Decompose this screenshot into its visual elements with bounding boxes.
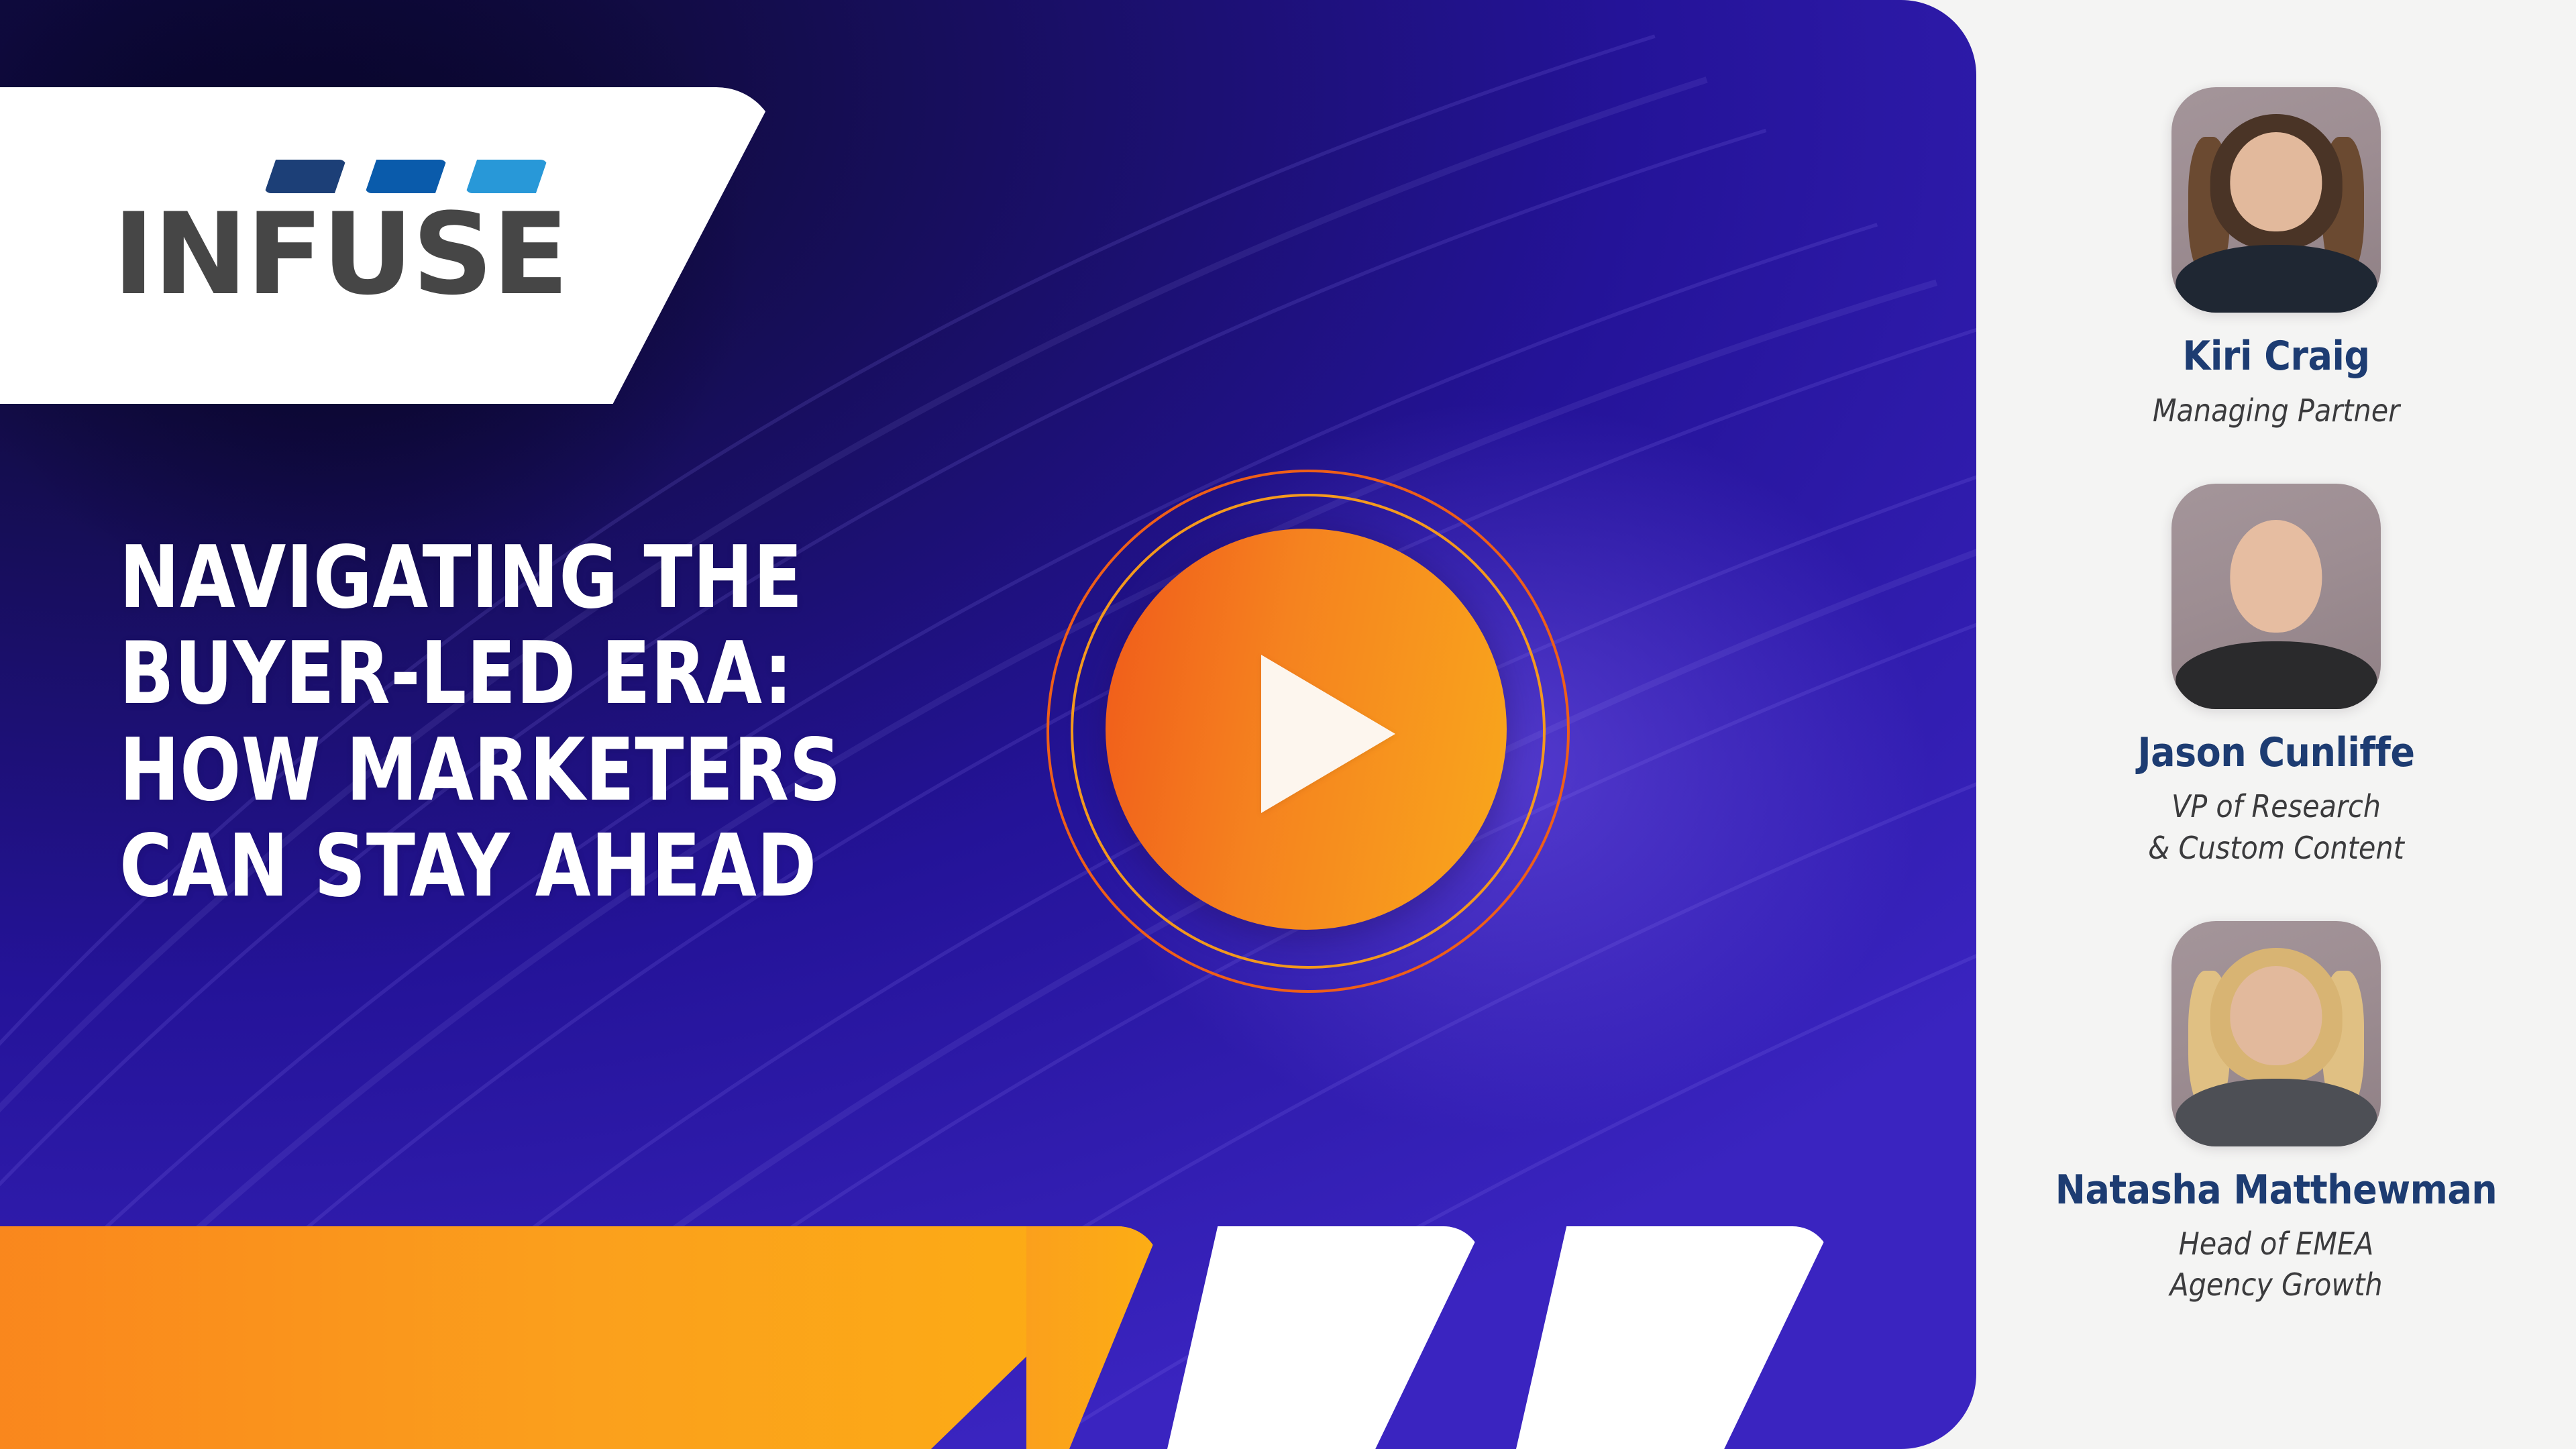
speaker-role: Head of EMEA Agency Growth — [2169, 1224, 2382, 1305]
speaker-card-1: Kiri Craig Managing Partner — [1976, 87, 2576, 431]
play-circle-icon[interactable] — [1106, 529, 1507, 930]
speaker-name: Kiri Craig — [2182, 335, 2369, 378]
speaker-card-3: Natasha Matthewman Head of EMEA Agency G… — [1976, 921, 2576, 1306]
speaker-rail: Kiri Craig Managing Partner Jason Cunlif… — [1976, 0, 2576, 1449]
infuse-wordmark: INFUSE — [113, 195, 555, 315]
hero-card: INFUSE NAVIGATING THE BUYER-LED ERA: HOW… — [0, 0, 1976, 1449]
speaker-role-line: Managing Partner — [2153, 392, 2400, 429]
speaker-card-2: Jason Cunliffe VP of Research & Custom C… — [1976, 484, 2576, 869]
webinar-title-card: INFUSE NAVIGATING THE BUYER-LED ERA: HOW… — [0, 0, 2576, 1449]
avatar-body — [2176, 1079, 2377, 1146]
speaker-role-line: Head of EMEA — [2179, 1226, 2374, 1262]
speaker-name: Natasha Matthewman — [2055, 1169, 2497, 1212]
white-slash-shape-2 — [1516, 1226, 1831, 1449]
avatar — [2171, 87, 2381, 313]
speaker-role-line: VP of Research — [2171, 788, 2381, 824]
title-line-3: HOW MARKETERS — [119, 722, 1199, 818]
speaker-role: VP of Research & Custom Content — [2148, 786, 2404, 868]
orange-banner-shape — [0, 1226, 1161, 1449]
speaker-name: Jason Cunliffe — [2138, 732, 2415, 775]
speaker-role-line: Agency Growth — [2169, 1267, 2382, 1303]
infuse-logo[interactable]: INFUSE — [113, 160, 555, 327]
page-title: NAVIGATING THE BUYER-LED ERA: HOW MARKET… — [119, 530, 1199, 914]
white-slash-shape-1 — [1167, 1226, 1483, 1449]
speaker-role-line: & Custom Content — [2148, 830, 2404, 866]
avatar — [2171, 484, 2381, 709]
play-triangle-icon — [1261, 655, 1395, 813]
avatar-face — [2230, 966, 2322, 1065]
title-line-1: NAVIGATING THE — [119, 530, 1199, 626]
avatar-body — [2176, 641, 2377, 709]
orange-banner-cap-shape — [1026, 1226, 1161, 1449]
avatar-face — [2230, 132, 2322, 231]
avatar-body — [2176, 245, 2377, 313]
play-button[interactable] — [1046, 470, 1570, 993]
speaker-role: Managing Partner — [2153, 390, 2400, 431]
title-line-2: BUYER-LED ERA: — [119, 626, 1199, 722]
title-line-4: CAN STAY AHEAD — [119, 818, 1199, 914]
avatar-face — [2230, 520, 2322, 633]
avatar — [2171, 921, 2381, 1146]
